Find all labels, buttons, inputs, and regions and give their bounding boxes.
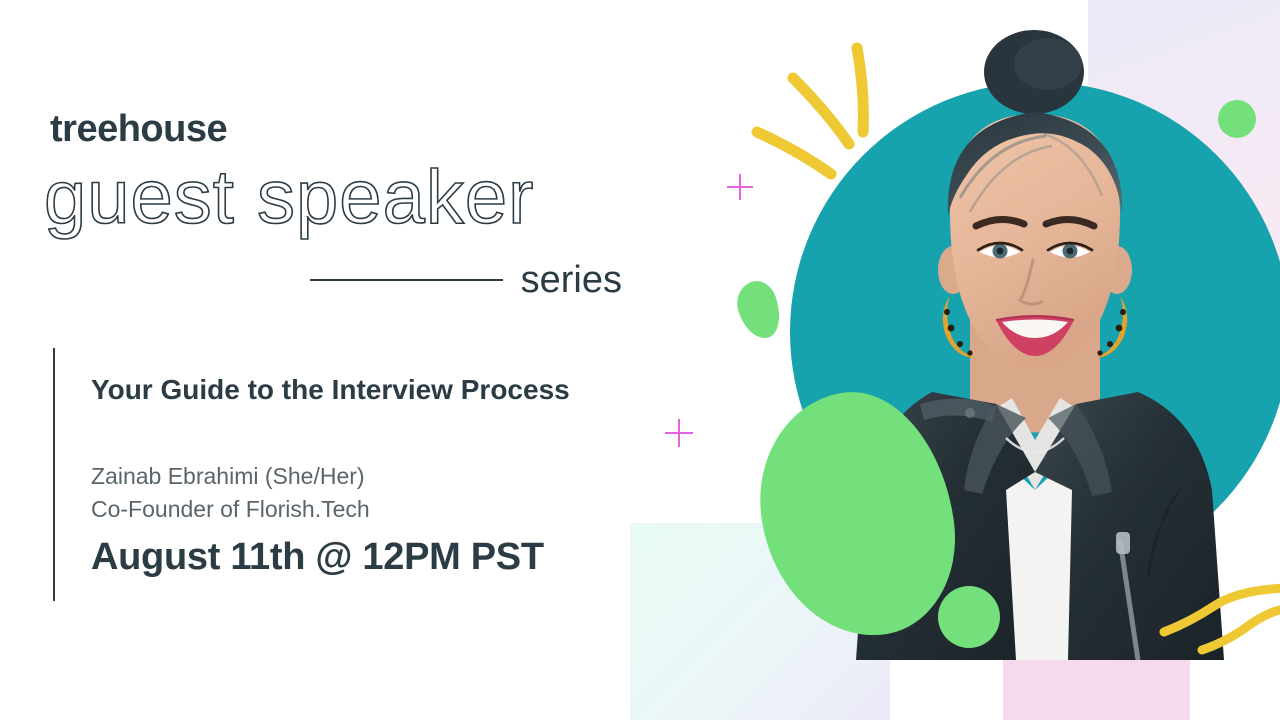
event-datetime: August 11th @ 12PM PST: [91, 536, 544, 579]
plus-icon-middle: [665, 419, 693, 447]
green-blob-small: [731, 276, 787, 344]
sunburst-rays-icon: [745, 40, 905, 200]
vertical-accent-bar: [53, 348, 55, 601]
series-divider-rule: [310, 279, 503, 281]
green-circle-bottom: [938, 586, 1000, 648]
series-row: series: [310, 258, 622, 302]
plus-icon-top: [727, 174, 753, 200]
green-circle-top-right: [1218, 100, 1256, 138]
guest-speaker-headline: guest speaker: [44, 160, 534, 236]
speaker-name: Zainab Ebrahimi (She/Her): [91, 461, 365, 492]
treehouse-wordmark: treehouse: [50, 108, 227, 151]
series-label: series: [521, 261, 622, 299]
wavy-lines-icon: [1160, 588, 1280, 668]
guest-speaker-promo-graphic: treehouse guest speaker series Your Guid…: [0, 0, 1280, 720]
talk-title: Your Guide to the Interview Process: [91, 370, 571, 409]
speaker-role: Co-Founder of Florish.Tech: [91, 494, 370, 525]
